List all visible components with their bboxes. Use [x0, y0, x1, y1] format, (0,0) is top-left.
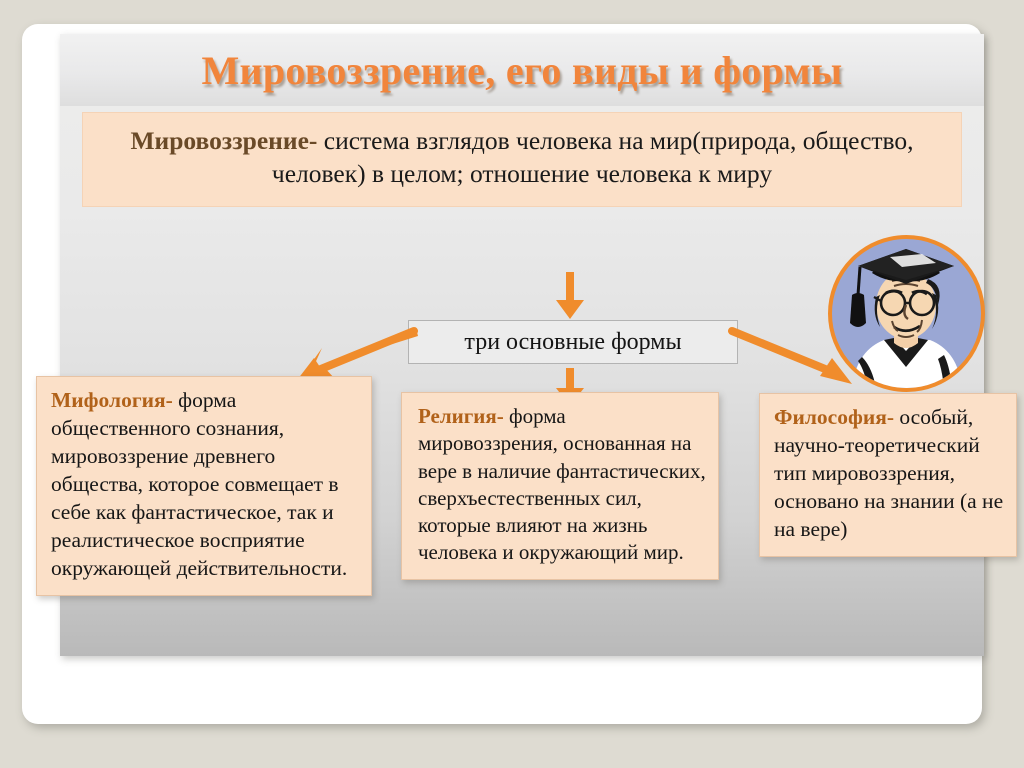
- slide-root: Мировоззрение, его виды и формы Мировозз…: [22, 24, 982, 724]
- slide-title-bar: Мировоззрение, его виды и формы: [60, 34, 984, 106]
- arrow-down-to-forms-icon: [554, 272, 586, 322]
- graduate-portrait: [828, 235, 985, 392]
- card-philosophy-term: Философия-: [774, 405, 894, 429]
- definition-box: Мировоззрение- система взглядов человека…: [82, 112, 962, 207]
- card-religion: Религия- форма мировоззрения, основанная…: [401, 392, 719, 580]
- page-title: Мировоззрение, его виды и формы: [201, 47, 842, 94]
- card-religion-text: форма мировоззрения, основанная на вере …: [418, 404, 706, 564]
- card-mythology: Мифология- форма общественного сознания,…: [36, 376, 372, 596]
- card-religion-term: Религия-: [418, 404, 504, 428]
- branch-label-text: три основные формы: [464, 329, 681, 356]
- card-mythology-term: Мифология-: [51, 388, 173, 412]
- card-mythology-text: форма общественного сознания, мировоззре…: [51, 388, 347, 580]
- graduate-scholar-icon: [832, 239, 981, 388]
- definition-term: Мировоззрение-: [130, 126, 317, 155]
- branch-label-box: три основные формы: [408, 320, 738, 364]
- card-philosophy: Философия- особый, научно-теоретический …: [759, 393, 1017, 557]
- definition-text: система взглядов человека на мир(природа…: [272, 126, 914, 188]
